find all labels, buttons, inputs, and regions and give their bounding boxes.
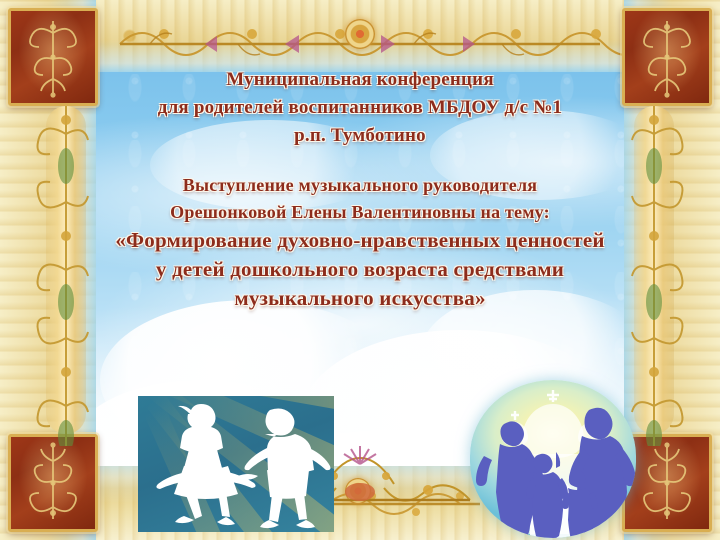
children-silhouettes-icon (138, 396, 334, 532)
topic-line-2: у детей дошкольного возраста средствами (62, 255, 658, 284)
conference-title-block: Муниципальная конференция для родителей … (62, 66, 658, 150)
father-head (585, 408, 613, 439)
speaker-block: Выступление музыкального руководителя Ор… (62, 172, 658, 226)
title-line-1: Муниципальная конференция (62, 66, 658, 94)
title-line-3: р.п. Тумботино (62, 122, 658, 150)
topic-block: «Формирование духовно-нравственных ценно… (62, 226, 658, 313)
children-holding-hands-illustration (138, 396, 334, 532)
topic-line-1: «Формирование духовно-нравственных ценно… (62, 226, 658, 255)
family-silhouettes-icon (470, 380, 636, 538)
speaker-line-2: Орешонковой Елены Валентиновны на тему: (62, 199, 658, 226)
title-line-2: для родителей воспитанников МБДОУ д/с №1 (62, 94, 658, 122)
child1-hair-right (556, 452, 560, 468)
presentation-slide: Муниципальная конференция для родителей … (0, 0, 720, 540)
family-and-church-illustration (470, 380, 636, 538)
mother-head (500, 421, 524, 446)
speaker-line-1: Выступление музыкального руководителя (62, 172, 658, 199)
topic-line-3: музыкального искусства» (62, 284, 658, 313)
mother-arm-outer (476, 456, 492, 486)
